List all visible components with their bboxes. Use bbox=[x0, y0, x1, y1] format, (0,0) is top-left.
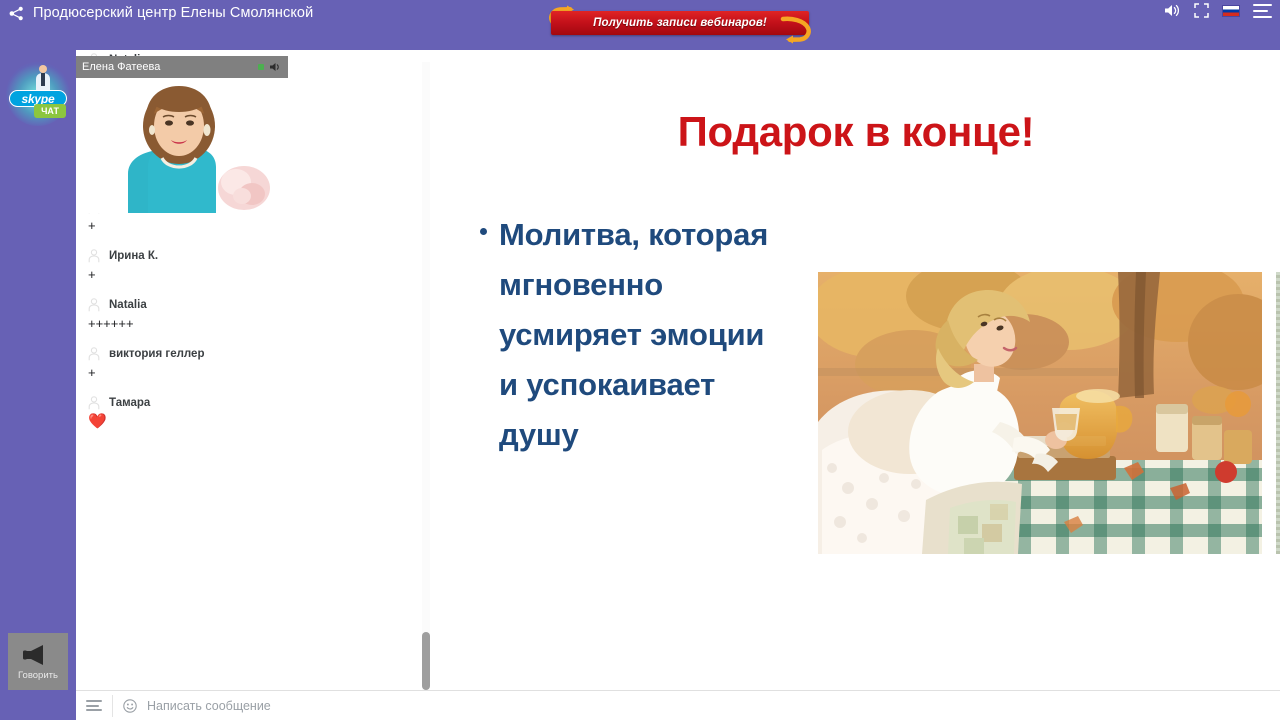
chat-message-header: Тамара bbox=[88, 394, 410, 412]
video-tile-header: Елена Фатеева bbox=[76, 56, 288, 78]
chat-message-author: Natalia bbox=[109, 299, 147, 311]
hamburger-menu-icon[interactable] bbox=[1253, 4, 1272, 18]
chat-message-text: + bbox=[88, 364, 410, 382]
russian-flag-icon[interactable] bbox=[1222, 5, 1240, 17]
emoji-button[interactable] bbox=[123, 699, 137, 713]
smiley-icon[interactable] bbox=[123, 699, 137, 713]
autumn-picnic-illustration bbox=[818, 272, 1262, 554]
speaker-icon[interactable] bbox=[269, 61, 282, 73]
chat-scrollbar[interactable] bbox=[422, 62, 430, 690]
presentation-slide: Подарок в конце! Молитва, которая мгнове… bbox=[432, 50, 1280, 720]
slide-title: Подарок в конце! bbox=[432, 108, 1280, 156]
share-icon[interactable] bbox=[9, 6, 24, 21]
top-bar-brand: Продюсерский центр Елены Смолянской bbox=[0, 0, 313, 26]
skype-chat-tag: ЧАТ bbox=[34, 104, 66, 118]
presenter-portrait bbox=[76, 78, 288, 213]
chat-message-author: виктория геллер bbox=[109, 348, 204, 360]
online-status-dot bbox=[258, 64, 264, 70]
chat-message-header: Ирина К. bbox=[88, 247, 410, 265]
skype-chat-logo: skype ЧАТ bbox=[6, 62, 70, 126]
left-rail-bottom-fill bbox=[0, 690, 76, 720]
page-title: Продюсерский центр Елены Смолянской bbox=[33, 5, 313, 21]
chat-message-text: + bbox=[88, 266, 410, 284]
promo-label: Получить записи вебинаров! bbox=[593, 17, 767, 29]
chat-message-author: Ирина К. bbox=[109, 250, 158, 262]
left-rail: skype ЧАТ Говорить bbox=[0, 50, 76, 720]
avatar-icon bbox=[88, 347, 101, 361]
message-input[interactable] bbox=[147, 699, 1280, 713]
presenter-video-image bbox=[76, 78, 288, 213]
avatar-icon bbox=[88, 298, 101, 312]
promo-banner[interactable]: Получить записи вебинаров! bbox=[551, 7, 809, 39]
presenter-name: Елена Фатеева bbox=[82, 61, 160, 73]
bullet-point-icon bbox=[480, 228, 487, 235]
video-tile-status bbox=[258, 61, 282, 73]
avatar-icon bbox=[88, 249, 101, 263]
chat-message: Natalia++++++ bbox=[76, 296, 422, 333]
composer-menu-button[interactable] bbox=[86, 700, 102, 711]
talk-button-label: Говорить bbox=[18, 670, 58, 681]
arrow-right-icon bbox=[779, 15, 813, 45]
promo-plate[interactable]: Получить записи вебинаров! bbox=[551, 11, 809, 35]
chat-message-text: ++++++ bbox=[88, 315, 410, 333]
webinar-room: Продюсерский центр Елены Смолянской Полу… bbox=[0, 0, 1280, 720]
top-bar-controls bbox=[1164, 3, 1272, 18]
chat-message-header: виктория геллер bbox=[88, 345, 410, 363]
volume-icon[interactable] bbox=[1164, 3, 1181, 18]
chat-message: Ирина К.+ bbox=[76, 247, 422, 284]
chat-message: Тамара❤️ bbox=[76, 394, 422, 431]
slide-photo-right-edge bbox=[1276, 272, 1280, 554]
talk-button[interactable]: Говорить bbox=[8, 633, 68, 691]
presenter-video-tile[interactable]: Елена Фатеева bbox=[76, 56, 288, 213]
avatar-icon bbox=[88, 396, 101, 410]
chat-message-text: ❤️ bbox=[88, 413, 410, 431]
composer-divider bbox=[112, 695, 113, 717]
chat-message-header: Natalia bbox=[88, 296, 410, 314]
slide-photo bbox=[818, 272, 1262, 554]
slide-bullet: Молитва, которая мгновенно усмиряет эмоц… bbox=[480, 210, 770, 460]
chat-scrollbar-thumb[interactable] bbox=[422, 632, 430, 690]
slide-bullet-text: Молитва, которая мгновенно усмиряет эмоц… bbox=[499, 210, 770, 460]
megaphone-icon bbox=[23, 644, 53, 666]
hamburger-menu-icon[interactable] bbox=[86, 700, 102, 711]
chat-scrollbar-track[interactable] bbox=[422, 62, 430, 690]
fullscreen-icon[interactable] bbox=[1194, 3, 1209, 18]
chat-message-author: Тамара bbox=[109, 397, 150, 409]
chat-message: виктория геллер+ bbox=[76, 345, 422, 382]
message-composer[interactable] bbox=[76, 690, 1280, 720]
chat-message-text: + bbox=[88, 217, 410, 235]
